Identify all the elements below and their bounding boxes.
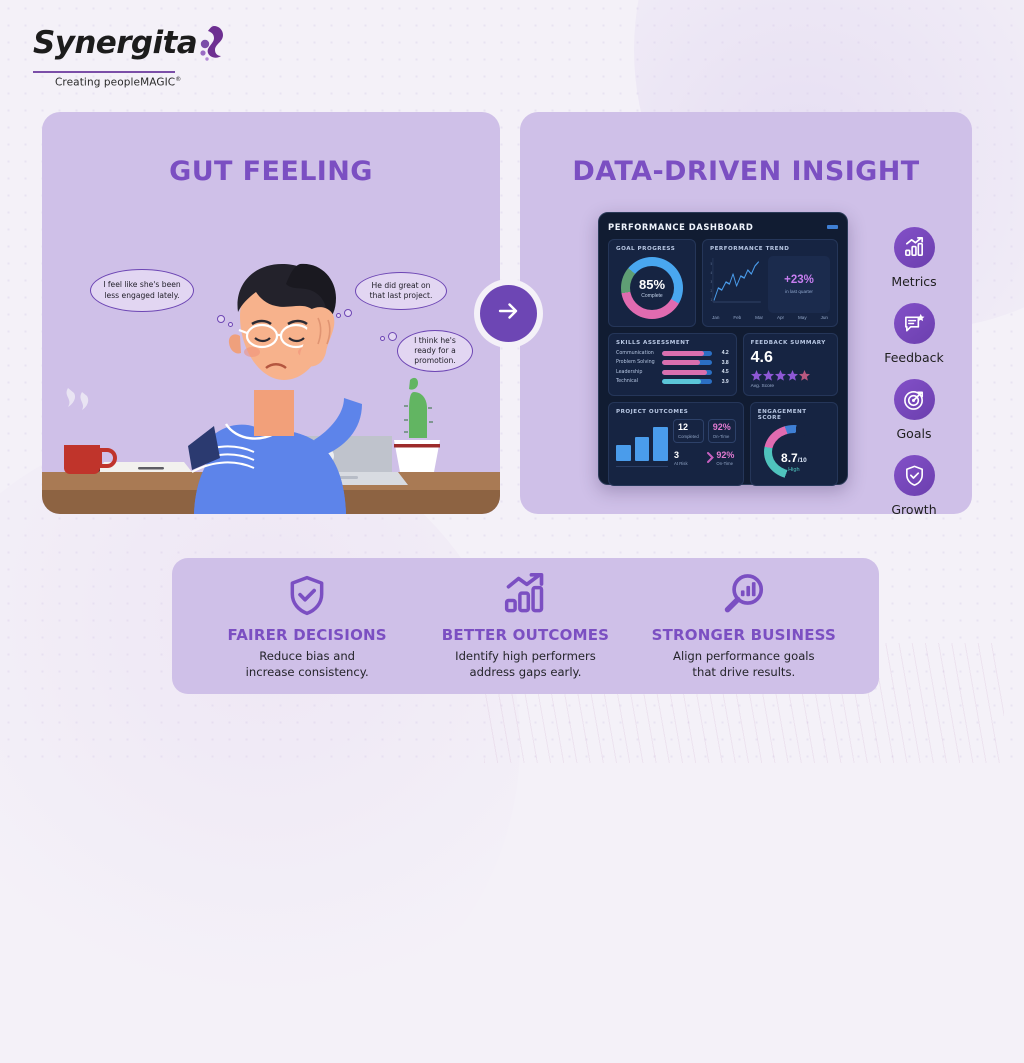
svg-text:1: 1 [711, 297, 712, 302]
project-outcomes-bars [616, 419, 668, 467]
svg-text:4: 4 [711, 270, 712, 275]
sidebar-item-growth[interactable]: Growth [878, 455, 950, 514]
benefit-title: FAIRER DECISIONS [200, 626, 415, 644]
skill-name: Communication [616, 351, 658, 356]
dashboard-title: PERFORMANCE DASHBOARD [608, 222, 753, 232]
stat-completed: 12 Completed [673, 419, 704, 443]
goal-progress-card[interactable]: GOAL PROGRESS 85% Complete [608, 239, 696, 327]
engagement-score-title: ENGAGEMENT SCORE [758, 409, 830, 421]
stat-label: On-Time [716, 461, 734, 466]
magnifier-chart-icon [636, 572, 851, 618]
data-driven-insight-panel: DATA-DRIVEN INSIGHT PERFORMANCE DASHBOAR… [520, 112, 972, 514]
performance-trend-title: PERFORMANCE TREND [710, 246, 830, 252]
brand-name: Synergita [33, 28, 197, 59]
svg-text:5: 5 [711, 261, 712, 266]
benefit-description: Align performance goals that drive resul… [636, 649, 851, 680]
chevron-right-icon [707, 450, 714, 468]
shield-check-icon [200, 572, 415, 618]
month-label: Mar [755, 315, 763, 320]
target-arrow-icon [894, 379, 935, 420]
brand-tagline: Creating peopleMAGIC® [55, 76, 208, 89]
feedback-label: Avg. Score [751, 384, 830, 389]
benefit-desc-line: address gaps early. [418, 665, 633, 681]
goal-progress-donut: 85% Complete [616, 256, 688, 320]
benefit-stronger-business: STRONGER BUSINESS Align performance goal… [636, 572, 851, 680]
feedback-summary-card[interactable]: FEEDBACK SUMMARY 4.6 Avg. Score [743, 333, 838, 396]
background-glow-bottom-left [0, 423, 520, 1063]
thought-bubble-2: He did great on that last project. [355, 272, 447, 310]
sidebar-item-label: Growth [891, 502, 936, 514]
skill-row: Communication 4.2 [616, 350, 729, 356]
performance-trend-chart: 54 321 [710, 256, 762, 313]
benefit-desc-line: that drive results. [636, 665, 851, 681]
sidebar-item-label: Goals [897, 426, 932, 441]
skill-value: 3.9 [716, 379, 729, 385]
trend-badge-label: in last quarter [785, 289, 813, 294]
engagement-value: 8.7 [781, 451, 798, 465]
engagement-label: High [758, 467, 830, 473]
goal-progress-value: 85% [639, 278, 665, 291]
benefit-description: Identify high performers address gaps ea… [418, 649, 633, 680]
svg-text:2: 2 [711, 288, 712, 293]
gut-feeling-title: GUT FEELING [42, 156, 500, 187]
sidebar-item-label: Metrics [891, 274, 936, 289]
bubble-dot [336, 313, 341, 318]
bubble-dot [380, 336, 385, 341]
bubble-dot [228, 322, 233, 327]
benefit-fairer-decisions: FAIRER DECISIONS Reduce bias and increas… [200, 572, 415, 680]
skill-value: 3.8 [716, 360, 729, 366]
thought-bubble-3: I think he's ready for a promotion. [397, 330, 473, 372]
skill-row: Problem Solving 3.8 [616, 360, 729, 366]
stat-value: 3 [674, 451, 702, 460]
arrow-right-icon [496, 298, 522, 329]
sidebar-item-feedback[interactable]: Feedback [878, 303, 950, 365]
feedback-score: 4.6 [751, 350, 830, 366]
bar-chart-growth-icon [894, 227, 935, 268]
benefit-description: Reduce bias and increase consistency. [200, 649, 415, 680]
trend-month-labels: Jan Feb Mar Apr May Jun [710, 315, 830, 320]
benefit-better-outcomes: BETTER OUTCOMES Identify high performers… [418, 572, 633, 680]
stat-label: On-Time [713, 434, 731, 439]
sidebar-item-label: Feedback [884, 350, 944, 365]
transition-arrow-button[interactable] [480, 285, 537, 342]
brand-logo: Synergita Creating peopleMAGIC® [33, 28, 208, 88]
gut-feeling-panel: GUT FEELING [42, 112, 500, 514]
project-outcomes-title: PROJECT OUTCOMES [616, 409, 736, 415]
performance-trend-card[interactable]: PERFORMANCE TREND 54 321 [702, 239, 838, 327]
skill-row: Technical 3.9 [616, 379, 729, 385]
skills-assessment-title: SKILLS ASSESSMENT [616, 340, 729, 346]
goal-progress-title: GOAL PROGRESS [616, 246, 688, 252]
stat-label: At Risk [674, 461, 702, 466]
month-label: Jun [821, 315, 828, 320]
stat-value: 12 [678, 423, 699, 432]
stat-at-risk: 3 At Risk [673, 448, 702, 467]
benefit-desc-line: Identify high performers [418, 649, 633, 665]
benefit-title: STRONGER BUSINESS [636, 626, 851, 644]
star-rating [751, 370, 830, 381]
month-label: Feb [733, 315, 741, 320]
star-icon [799, 370, 810, 381]
benefit-desc-line: Reduce bias and [200, 649, 415, 665]
svg-text:3: 3 [711, 279, 712, 284]
dashboard-header: PERFORMANCE DASHBOARD [608, 222, 838, 232]
benefit-title: BETTER OUTCOMES [418, 626, 633, 644]
stat-label: Completed [678, 434, 699, 439]
bubble-dot [388, 332, 397, 341]
insight-sidebar: Metrics Feedback [878, 227, 950, 514]
bubble-dot [344, 309, 352, 317]
benefits-bar: FAIRER DECISIONS Reduce bias and increas… [172, 558, 879, 694]
benefit-desc-line: Align performance goals [636, 649, 851, 665]
skill-name: Problem Solving [616, 360, 658, 365]
sidebar-item-goals[interactable]: Goals [878, 379, 950, 441]
engagement-scale: /10 [798, 457, 807, 464]
sidebar-item-metrics[interactable]: Metrics [878, 227, 950, 289]
data-driven-insight-title: DATA-DRIVEN INSIGHT [520, 156, 972, 187]
skill-name: Technical [616, 379, 658, 384]
month-label: May [798, 315, 807, 320]
star-icon [787, 370, 798, 381]
goal-progress-label: Complete [639, 293, 665, 299]
thought-bubble-1: I feel like she's been less engaged late… [90, 269, 194, 312]
project-outcomes-card[interactable]: PROJECT OUTCOMES 12 Completed [608, 402, 744, 486]
skill-value: 4.5 [716, 369, 729, 375]
feedback-summary-title: FEEDBACK SUMMARY [751, 340, 830, 346]
synergita-swirl-icon [198, 24, 224, 67]
dashboard-row-2: SKILLS ASSESSMENT Communication 4.2 Prob… [608, 333, 838, 396]
star-icon [775, 370, 786, 381]
bubble-dot [217, 315, 225, 323]
month-label: Jan [712, 315, 719, 320]
skill-name: Leadership [616, 370, 658, 375]
bar-chart-growth-icon [418, 572, 633, 618]
star-icon [763, 370, 774, 381]
stat-value: 92% [713, 423, 731, 432]
skill-row: Leadership 4.5 [616, 369, 729, 375]
performance-dashboard[interactable]: PERFORMANCE DASHBOARD GOAL PROGRESS 85% … [598, 212, 848, 485]
speech-bubble-star-icon [894, 303, 935, 344]
star-icon [751, 370, 762, 381]
trend-badge-value: +23% [784, 275, 814, 287]
skills-assessment-card[interactable]: SKILLS ASSESSMENT Communication 4.2 Prob… [608, 333, 737, 396]
shield-check-icon [894, 455, 935, 496]
dashboard-row-1: GOAL PROGRESS 85% Complete PERFORMANCE T… [608, 239, 838, 327]
engagement-score-card[interactable]: ENGAGEMENT SCORE 8.7/10 High [750, 402, 838, 486]
stat-on-time: 92% On-Time [708, 419, 736, 443]
skill-value: 4.2 [716, 350, 729, 356]
stat-value: 92% [716, 451, 734, 460]
month-label: Apr [777, 315, 784, 320]
logo-divider [33, 71, 175, 73]
performance-trend-badge: +23% in last quarter [768, 256, 830, 313]
dashboard-row-3: PROJECT OUTCOMES 12 Completed [608, 402, 838, 486]
engagement-gauge: 8.7/10 High [758, 425, 830, 479]
stat-on-time-2: 92% On-Time [706, 447, 735, 468]
menu-icon[interactable] [827, 225, 838, 229]
benefit-desc-line: increase consistency. [200, 665, 415, 681]
